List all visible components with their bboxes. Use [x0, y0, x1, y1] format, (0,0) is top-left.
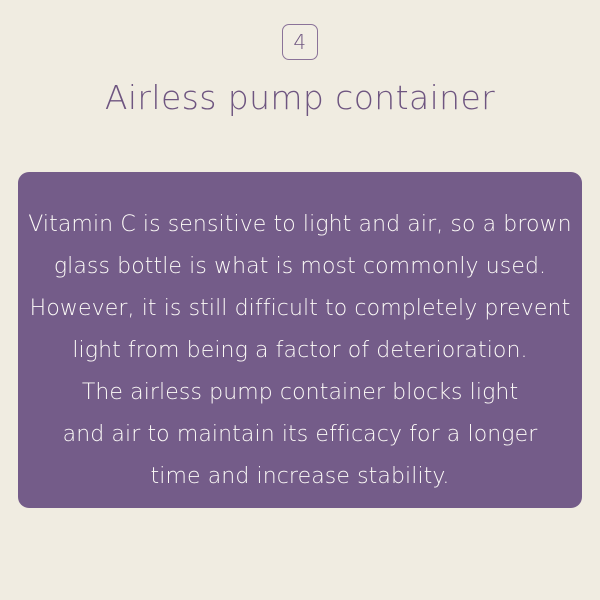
infographic-page: 4 Airless pump container Vitamin C is se… [0, 0, 600, 600]
step-badge-container: 4 [0, 24, 600, 60]
description-line: light from being a factor of deteriorati… [72, 330, 527, 372]
step-number-label: 4 [293, 32, 306, 52]
step-number-badge: 4 [282, 24, 318, 60]
description-line: The airless pump container blocks light [82, 372, 518, 414]
description-line: time and increase stability. [151, 456, 450, 498]
page-title: Airless pump container [0, 76, 600, 120]
description-line: Vitamin C is sensitive to light and air,… [28, 204, 571, 246]
description-line: glass bottle is what is most commonly us… [54, 246, 546, 288]
description-line: and air to maintain its efficacy for a l… [63, 414, 538, 456]
description-panel: Vitamin C is sensitive to light and air,… [18, 172, 582, 508]
description-line: However, it is still difficult to comple… [30, 288, 571, 330]
